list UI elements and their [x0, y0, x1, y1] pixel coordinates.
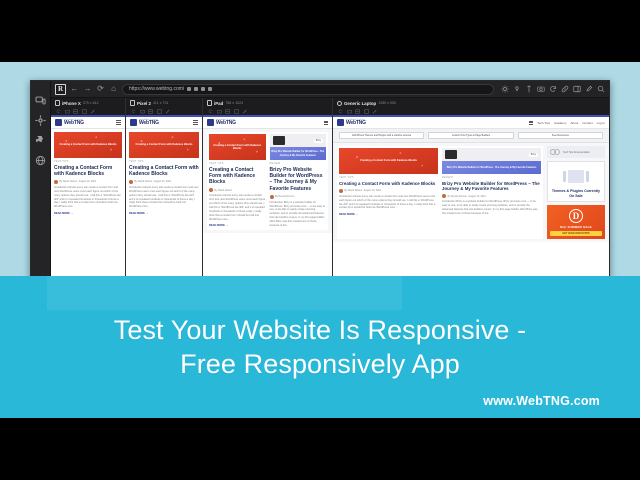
post-author: By David Nelson: [135, 180, 153, 183]
brand-logo-icon: [55, 119, 62, 126]
responsively-app-window: R ← → ⟳ ⌂ https://www.webtng.com/: [30, 80, 610, 278]
avatar: [129, 180, 133, 184]
inspect-icon[interactable]: [157, 109, 162, 114]
bulb-icon[interactable]: [513, 85, 521, 93]
device-name: iPhone X: [62, 101, 81, 106]
back-button[interactable]: ←: [70, 85, 79, 94]
divi-logo-icon: D: [569, 209, 583, 223]
brand-logo-icon: [130, 119, 137, 126]
screenshot-icon[interactable]: [217, 109, 222, 114]
post-title[interactable]: Brizy Pro Website Builder for WordPress …: [442, 181, 541, 192]
site-header: knowledge & activity WebTNG: [203, 117, 332, 129]
post-banner-image: Creating a Contact Form with Kadence Blo…: [54, 132, 122, 158]
title-line-1: Test Your Website Is Responsive -: [114, 313, 527, 347]
post-card: Creating a Contact Form with Kadence Blo…: [54, 132, 122, 215]
device-toolbar: [333, 107, 609, 115]
device-dimensions: 375 x 812: [83, 101, 99, 105]
screenshot-icon[interactable]: [347, 109, 352, 114]
gear-icon[interactable]: [35, 115, 46, 126]
device-toolbar: [51, 107, 125, 115]
post-meta: By David Nelson August 16, 2021: [339, 189, 438, 193]
inspect-icon[interactable]: [364, 109, 369, 114]
site-header: knowledge & activity WebTNG Tech Tips Ac…: [333, 117, 609, 129]
devtools-icon[interactable]: [573, 85, 581, 93]
device-header[interactable]: Pixel 2 411 x 731: [126, 98, 202, 107]
inspect-icon[interactable]: [82, 109, 87, 114]
letterbox-bottom: [0, 418, 640, 480]
rotate-icon[interactable]: [131, 109, 136, 114]
device-header[interactable]: iPad 768 x 1024: [203, 98, 332, 107]
device-viewport[interactable]: knowledge & activity WebTNG Creating a C…: [126, 115, 202, 277]
post-card: Brizy Brizy Pro Website Builder for Word…: [442, 148, 541, 237]
site-header: knowledge & activity WebTNG: [51, 117, 125, 129]
device-toolbar: [203, 107, 332, 115]
browser-toolbar: R ← → ⟳ ⌂ https://www.webtng.com/: [51, 81, 609, 98]
post-excerpt: Introduction Almost every site needs a c…: [209, 194, 266, 221]
post-banner-image: Brizy Brizy Pro Website Builder for Word…: [442, 148, 541, 174]
post-author: By David Nelson: [60, 180, 78, 183]
post-date: August 10, 2021: [468, 195, 485, 198]
brizy-badge: Brizy: [529, 153, 538, 157]
site-brand[interactable]: knowledge & activity WebTNG: [55, 119, 84, 126]
avatar: [339, 189, 343, 193]
avatar: [442, 194, 446, 198]
device-dimensions: 768 x 1024: [225, 101, 243, 105]
rotate-icon[interactable]: [549, 85, 557, 93]
post-category[interactable]: REVIEW: [442, 177, 541, 179]
menu-icon[interactable]: [529, 121, 533, 124]
inspect-icon[interactable]: [525, 85, 533, 93]
device-dimensions: 411 x 731: [153, 101, 169, 105]
post-grid: Creating a Contact Form with Kadence Blo…: [337, 146, 543, 239]
cta-button-page-builders[interactable]: Custom Post Types & Page Builders: [428, 132, 513, 139]
device-viewport[interactable]: knowledge & activity WebTNG: [203, 115, 332, 277]
avatar: [270, 195, 274, 199]
zoom-icon[interactable]: [597, 85, 605, 93]
post-title[interactable]: Creating a Contact Form with Kadence Blo…: [209, 167, 266, 186]
title-line-2: Free Responsively App: [114, 347, 527, 381]
site-content: Creating a Contact Form with Kadence Blo…: [203, 129, 332, 233]
post-excerpt: Introduction Almost every site needs a c…: [129, 186, 199, 209]
site-brand[interactable]: knowledge & activity WebTNG: [337, 119, 366, 126]
post-card: Creating a Contact Form with Kadence Blo…: [129, 132, 199, 215]
post-meta: By David Nelson August 16, 2021: [129, 180, 199, 184]
post-category[interactable]: TECH TIPS: [339, 177, 438, 179]
fullpage-screenshot-icon[interactable]: [225, 109, 230, 114]
cta-label: Custom Post Types & Page Builders: [452, 134, 491, 137]
responsively-logo-icon: R: [55, 84, 66, 95]
logo-letter: R: [58, 86, 63, 93]
post-banner-caption: Creating a Contact Form with Kadence Blo…: [211, 144, 264, 151]
post-banner-image: Brizy Brizy Pro Website Builder for Word…: [270, 134, 327, 160]
device-name: Pixel 2: [137, 101, 151, 106]
app-sidebar: [31, 81, 51, 277]
puzzle-icon[interactable]: [35, 135, 46, 146]
post-category[interactable]: TECH TIPS: [54, 161, 122, 163]
device-preview-pixel-2: Pixel 2 411 x 731: [126, 98, 203, 277]
cta-row: WordPress Themes and Plugins with a Life…: [333, 129, 609, 143]
brightness-icon[interactable]: [501, 85, 509, 93]
device-viewport[interactable]: knowledge & activity WebTNG Tech Tips Ac…: [333, 115, 609, 277]
post-date: August 16, 2021: [79, 180, 96, 183]
cta-button-lifetime-license[interactable]: WordPress Themes and Plugins with a Life…: [339, 132, 424, 139]
post-excerpt: Introduction Brizy is a website builder …: [270, 201, 327, 228]
rendered-site: knowledge & activity WebTNG Tech Tips Ac…: [333, 115, 609, 277]
brand-name: WebTNG: [346, 121, 366, 126]
widget-title: Themes & Plugins Currently On Sale: [551, 189, 601, 198]
post-author: By Dennis Dornon: [275, 195, 294, 198]
post-meta: By Dennis Dornon August 10, 2021: [442, 194, 541, 198]
widget-sale[interactable]: Themes & Plugins Currently On Sale: [547, 161, 605, 202]
device-name: iPad: [214, 101, 223, 106]
read-more-link[interactable]: READ MORE →: [54, 212, 122, 215]
nav-item-log-in[interactable]: Log In: [597, 121, 605, 125]
post-banner-image: Creating a Contact Form with Kadence Blo…: [129, 132, 199, 158]
post-thumbnail: [445, 150, 457, 159]
site-url-watermark: www.WebTNG.com: [483, 394, 600, 408]
brand-name: WebTNG: [139, 121, 159, 126]
device-header[interactable]: iPhone X 375 x 812: [51, 98, 125, 107]
inspect-icon[interactable]: [234, 109, 239, 114]
ad-button[interactable]: GET HUGE DISCOUNTS: [550, 231, 602, 236]
letterbox-top: [0, 0, 640, 62]
link-icon[interactable]: [561, 85, 569, 93]
device-toolbar: [126, 107, 202, 115]
phone-icon: [130, 100, 135, 106]
post-banner-caption: Creating a Contact Form with Kadence Blo…: [360, 159, 417, 163]
post-banner-image: Creating a Contact Form with Kadence Blo…: [209, 134, 266, 160]
laptop-icon: [337, 101, 342, 106]
site-content: Creating a Contact Form with Kadence Blo…: [126, 129, 202, 218]
post-meta: By Dennis Dornon: [270, 195, 327, 199]
rotate-icon[interactable]: [338, 109, 343, 114]
avatar: [54, 180, 58, 184]
post-banner-caption: Creating a Contact Form with Kadence Blo…: [136, 143, 193, 147]
post-banner-caption: Brizy Pro Website Builder for WordPress …: [271, 150, 326, 156]
screenshot-icon[interactable]: [140, 109, 145, 114]
post-card: Creating a Contact Form with Kadence Blo…: [339, 148, 438, 237]
post-author: By David Nelson: [345, 189, 363, 192]
post-title[interactable]: Creating a Contact Form with Kadence Blo…: [339, 181, 438, 187]
pencil-icon[interactable]: [242, 109, 247, 114]
history-icon[interactable]: [194, 87, 198, 91]
post-author: By David Nelson: [215, 189, 233, 192]
post-meta: By David Nelson: [209, 188, 266, 192]
site-nav: Tech Tips Academy About Contact Log In: [529, 121, 605, 125]
post-date: August 16, 2021: [364, 189, 381, 192]
pencil-icon[interactable]: [372, 109, 377, 114]
screenshot-icon[interactable]: [65, 109, 70, 114]
page-title: Test Your Website Is Responsive - Free R…: [114, 313, 527, 381]
chat-bubbles-icon: [550, 149, 560, 155]
post-excerpt: Introduction Almost every site needs a c…: [54, 186, 122, 209]
site-sidebar: Tech Tips Documentation Themes & Plugins…: [547, 146, 605, 239]
brizy-badge: Brizy: [314, 139, 323, 143]
site-content: Creating a Contact Form with Kadence Blo…: [333, 143, 609, 242]
read-more-link[interactable]: READ MORE →: [129, 212, 199, 215]
profile-icon[interactable]: [201, 87, 205, 91]
post-excerpt: Introduction Almost every site needs a c…: [339, 195, 438, 211]
read-more-link[interactable]: READ MORE →: [209, 224, 266, 227]
post-title[interactable]: Brizy Pro Website Builder for WordPress …: [270, 167, 327, 193]
menu-icon[interactable]: [193, 120, 198, 124]
post-author: By Dennis Dornon: [448, 195, 467, 198]
device-preview-strip: iPhone X 375 x 812: [51, 98, 609, 277]
cta-button-free-resources[interactable]: Free Resources: [518, 132, 603, 139]
rendered-site: knowledge & activity WebTNG: [203, 115, 332, 277]
fullpage-screenshot-icon[interactable]: [73, 109, 78, 114]
site-content: Creating a Contact Form with Kadence Blo…: [51, 129, 125, 218]
post-banner-caption: Brizy Pro Website Builder for WordPress …: [447, 166, 537, 169]
send-icon[interactable]: [208, 87, 212, 91]
title-band: Test Your Website Is Responsive - Free R…: [0, 276, 640, 418]
site-header: knowledge & activity WebTNG: [126, 117, 202, 129]
nav-item-academy[interactable]: Academy: [554, 121, 567, 125]
pencil-icon[interactable]: [165, 109, 170, 114]
app-main: R ← → ⟳ ⌂ https://www.webtng.com/: [51, 81, 609, 277]
ad-headline: Divi SUMMER SALE: [550, 225, 602, 229]
site-brand[interactable]: knowledge & activity WebTNG: [207, 119, 236, 126]
widget-documentation[interactable]: Tech Tips Documentation: [547, 146, 605, 158]
rendered-site: knowledge & activity WebTNG Creating a C…: [126, 115, 202, 277]
rendered-site: knowledge & activity WebTNG Creating a C…: [51, 115, 125, 277]
bookmark-icon[interactable]: [187, 87, 191, 91]
eyedropper-icon[interactable]: [585, 85, 593, 93]
post-meta: By David Nelson August 16, 2021: [54, 180, 122, 184]
post-category[interactable]: REVIEW: [270, 163, 327, 165]
post-banner-image: Creating a Contact Form with Kadence Blo…: [339, 148, 438, 174]
post-title[interactable]: Creating a Contact Form with Kadence Blo…: [54, 165, 122, 178]
post-title[interactable]: Creating a Contact Form with Kadence Blo…: [129, 165, 199, 178]
reload-button[interactable]: ⟳: [96, 85, 105, 94]
read-more-link[interactable]: READ MORE →: [339, 213, 438, 216]
fullpage-screenshot-icon[interactable]: [148, 109, 153, 114]
post-banner-caption: Creating a Contact Form with Kadence Blo…: [60, 143, 117, 147]
rotate-icon[interactable]: [208, 109, 213, 114]
device-preview-iphone-x: iPhone X 375 x 812: [51, 98, 126, 277]
pencil-icon[interactable]: [90, 109, 95, 114]
avatar: [209, 188, 213, 192]
rotate-icon[interactable]: [56, 109, 61, 114]
globe-icon[interactable]: [35, 155, 46, 166]
device-preview-generic-laptop: Generic Laptop 1280 x 950: [333, 98, 609, 277]
widget-divi-ad[interactable]: D Divi SUMMER SALE GET HUGE DISCOUNTS: [547, 205, 605, 239]
post-thumbnail: [273, 136, 285, 145]
nav-item-tech-tips[interactable]: Tech Tips: [537, 121, 550, 125]
fullpage-screenshot-icon[interactable]: [355, 109, 360, 114]
post-excerpt: Introduction Brizy is a website builder …: [442, 200, 541, 216]
widget-illustration: [551, 165, 601, 187]
device-preview-ipad: iPad 768 x 1024: [203, 98, 333, 277]
nav-item-about[interactable]: About: [570, 121, 578, 125]
device-header[interactable]: Generic Laptop 1280 x 950: [333, 98, 609, 107]
device-name: Generic Laptop: [344, 101, 376, 106]
brand-name: WebTNG: [216, 121, 236, 126]
menu-icon[interactable]: [116, 120, 121, 124]
tablet-icon: [207, 100, 212, 106]
widget-title: Tech Tips Documentation: [563, 151, 590, 154]
camera-icon[interactable]: [537, 85, 545, 93]
post-date: August 16, 2021: [154, 180, 171, 183]
post-card: Brizy Brizy Pro Website Builder for Word…: [270, 134, 327, 228]
forward-button[interactable]: →: [83, 85, 92, 94]
devices-icon[interactable]: [35, 95, 46, 106]
post-category[interactable]: TECH TIPS: [129, 161, 199, 163]
address-bar-actions: [187, 87, 212, 91]
post-card: Creating a Contact Form with Kadence Blo…: [209, 134, 266, 228]
toolbar-icons: [498, 85, 605, 93]
slide-stage: R ← → ⟳ ⌂ https://www.webtng.com/: [0, 0, 640, 480]
cta-label: Free Resources: [552, 134, 569, 137]
post-grid: Creating a Contact Form with Kadence Blo…: [207, 132, 328, 230]
cta-label: WordPress Themes and Plugins with a Life…: [352, 134, 411, 137]
url-text: https://www.webtng.com/: [129, 86, 184, 92]
brand-logo-icon: [337, 119, 344, 126]
device-viewport[interactable]: knowledge & activity WebTNG Creating a C…: [51, 115, 125, 277]
brand-logo-icon: [207, 119, 214, 126]
menu-icon[interactable]: [324, 121, 328, 124]
address-bar[interactable]: https://www.webtng.com/: [122, 84, 494, 95]
phone-icon: [55, 100, 60, 106]
home-button[interactable]: ⌂: [109, 85, 118, 94]
brand-name: WebTNG: [64, 121, 84, 126]
post-category[interactable]: TECH TIPS: [209, 163, 266, 165]
site-brand[interactable]: knowledge & activity WebTNG: [130, 119, 159, 126]
device-dimensions: 1280 x 950: [378, 101, 396, 105]
nav-item-contact[interactable]: Contact: [582, 121, 592, 125]
